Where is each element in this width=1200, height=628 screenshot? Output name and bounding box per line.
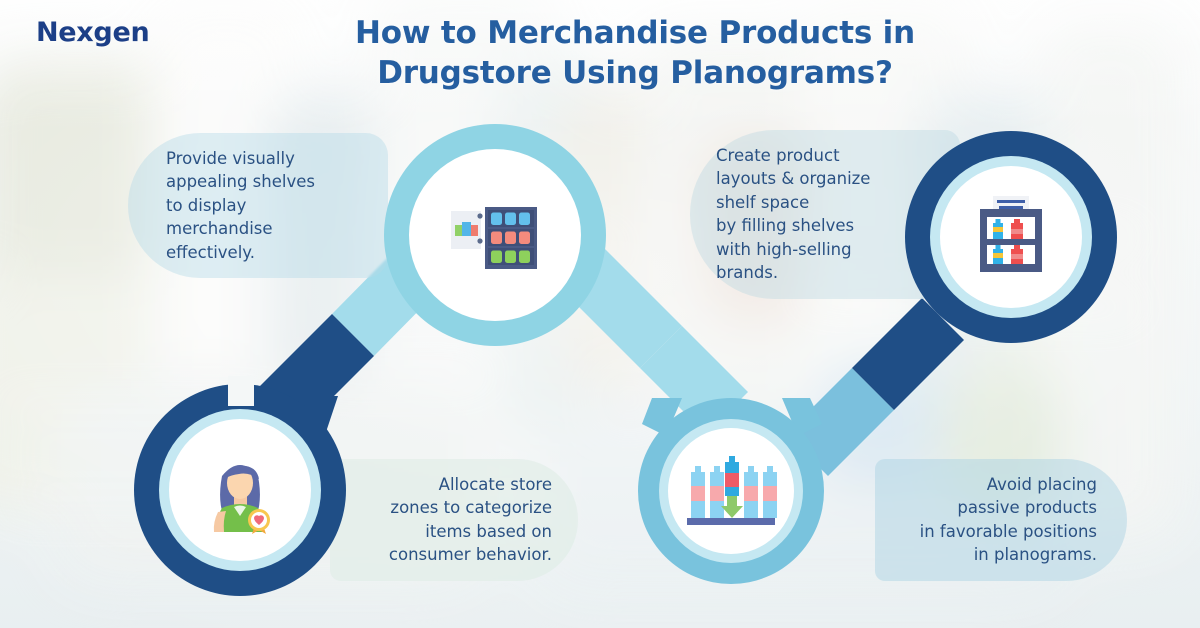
step-1-text: Provide visually appealing shelves to di… [128, 133, 388, 278]
step-1-line-3: to display [166, 194, 366, 217]
step-3-line-2: zones to categorize [352, 496, 552, 519]
step-1-line-1: Provide visually [166, 147, 366, 170]
step-3-line-1: Allocate store [352, 473, 552, 496]
step-4-line-1: Avoid placing [897, 473, 1097, 496]
planogram-shelf-icon [449, 189, 541, 281]
step-4-line-3: in favorable positions [897, 520, 1097, 543]
step-1-line-2: appealing shelves [166, 170, 366, 193]
page-title: How to Merchandise Products in Drugstore… [300, 13, 970, 94]
step-1-line-5: effectively. [166, 241, 366, 264]
store-associate-badge-icon [196, 450, 284, 538]
step-3-line-3: items based on [352, 520, 552, 543]
page-title-line-2: Drugstore Using Planograms? [300, 53, 970, 93]
page-title-line-1: How to Merchandise Products in [300, 13, 970, 53]
step-4-node[interactable] [636, 396, 826, 586]
step-1-line-4: merchandise [166, 217, 366, 240]
step-3-text: Allocate store zones to categorize items… [330, 459, 578, 581]
step-1-node[interactable] [380, 120, 610, 350]
step-4-line-4: in planograms. [897, 543, 1097, 566]
brand-logo: Nexgen [36, 17, 149, 48]
step-3-node[interactable] [132, 382, 348, 598]
step-4-line-2: passive products [897, 496, 1097, 519]
step-4-text: Avoid placing passive products in favora… [875, 459, 1127, 581]
shelf-stock-icon [968, 194, 1054, 280]
bottle-row-arrow-icon [681, 448, 781, 534]
step-3-line-4: consumer behavior. [352, 543, 552, 566]
step-2-node[interactable] [903, 129, 1119, 345]
